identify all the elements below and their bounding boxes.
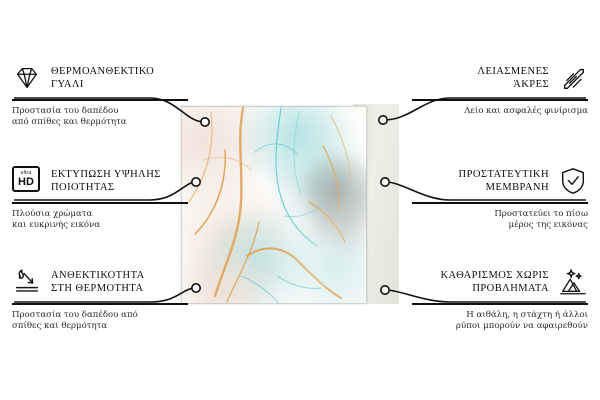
divider [12, 303, 188, 305]
feature-title: ΠΡΟΣΤΑΤΕΥΤΙΚΗ ΜΕΜΒΡΑΝΗ [459, 168, 549, 194]
divider [412, 202, 588, 204]
feature-title: ΛΕΙΑΣΜΕΝΕΣ ΆΚΡΕΣ [477, 65, 549, 91]
divider [12, 99, 188, 101]
feature-header: ΘΕΡΜΟΑΝΘΕΚΤΙΚΟ ΓΥΑΛΙ [12, 62, 188, 94]
shield-check-icon [558, 166, 588, 196]
sparkle-clean-icon [558, 267, 588, 297]
badge-top-label: ultra [21, 171, 32, 176]
feature-description: Προστατεύει το πίσω μέρος της εικόνας [412, 209, 588, 232]
divider [12, 202, 188, 204]
feature-description: Πλούσια χρώματα και ευκρινής εικόνα [12, 209, 188, 232]
feature-heat-resistance: ΑΝΘΕΚΤΙΚΟΤΗΤΑ ΣΤΗ ΘΕΡΜΟΤΗΤΑ Προστασία το… [12, 266, 188, 333]
divider [412, 303, 588, 305]
glass-edge [181, 106, 367, 304]
feature-description: Λείο και ασφαλές φινίρισμα [412, 106, 588, 118]
feature-title: ΘΕΡΜΟΑΝΘΕΚΤΙΚΟ ΓΥΑΛΙ [51, 65, 154, 91]
feature-header: ΚΑΘΑΡΙΣΜΟΣ ΧΩΡΙΣ ΠΡΟΒΛΗΜΑΤΑ [412, 266, 588, 298]
diamond-icon [12, 63, 42, 93]
feature-easy-cleaning: ΚΑΘΑΡΙΣΜΟΣ ΧΩΡΙΣ ΠΡΟΒΛΗΜΑΤΑ Η αιθάλη, η … [412, 266, 588, 333]
feature-description: Προστασία του δαπέδου από σπίθες και θερ… [12, 106, 188, 129]
glass-splashback [181, 106, 367, 304]
badge-bottom-label: HD [18, 177, 34, 188]
infographic-stage: ΘΕΡΜΟΑΝΘΕΚΤΙΚΟ ΓΥΑΛΙ Προστασία του δαπέδ… [0, 0, 600, 400]
product-image [181, 106, 399, 304]
feature-title: ΑΝΘΕΚΤΙΚΟΤΗΤΑ ΣΤΗ ΘΕΡΜΟΤΗΤΑ [51, 269, 145, 295]
feature-header: ΛΕΙΑΣΜΕΝΕΣ ΆΚΡΕΣ [412, 62, 588, 94]
feature-description: Η αιθάλη, η στάχτη ή άλλοι ρύποι μπορούν… [412, 310, 588, 333]
feature-header: ΠΡΟΣΤΑΤΕΥΤΙΚΗ ΜΕΜΒΡΑΝΗ [412, 165, 588, 197]
feature-title: ΕΚΤΥΠΩΣΗ ΥΨΗΛΗΣ ΠΟΙΟΤΗΤΑΣ [51, 168, 161, 194]
ultra-hd-badge-icon: ultra HD [12, 166, 42, 196]
heat-resistance-icon [12, 267, 42, 297]
feature-header: ΑΝΘΕΚΤΙΚΟΤΗΤΑ ΣΤΗ ΘΕΡΜΟΤΗΤΑ [12, 266, 188, 298]
feature-title: ΚΑΘΑΡΙΣΜΟΣ ΧΩΡΙΣ ΠΡΟΒΛΗΜΑΤΑ [440, 269, 549, 295]
feature-heat-resistant-glass: ΘΕΡΜΟΑΝΘΕΚΤΙΚΟ ΓΥΑΛΙ Προστασία του δαπέδ… [12, 62, 188, 129]
feature-high-quality-print: ultra HD ΕΚΤΥΠΩΣΗ ΥΨΗΛΗΣ ΠΟΙΟΤΗΤΑΣ Πλούσ… [12, 165, 188, 232]
feature-header: ultra HD ΕΚΤΥΠΩΣΗ ΥΨΗΛΗΣ ΠΟΙΟΤΗΤΑΣ [12, 165, 188, 197]
feature-protective-membrane: ΠΡΟΣΤΑΤΕΥΤΙΚΗ ΜΕΜΒΡΑΝΗ Προστατεύει το πί… [412, 165, 588, 232]
divider [412, 99, 588, 101]
polished-edges-icon [558, 63, 588, 93]
feature-description: Προστασία του δαπέδου από σπίθες και θερ… [12, 310, 188, 333]
feature-polished-edges: ΛΕΙΑΣΜΕΝΕΣ ΆΚΡΕΣ Λείο και ασφαλές φινίρι… [412, 62, 588, 117]
